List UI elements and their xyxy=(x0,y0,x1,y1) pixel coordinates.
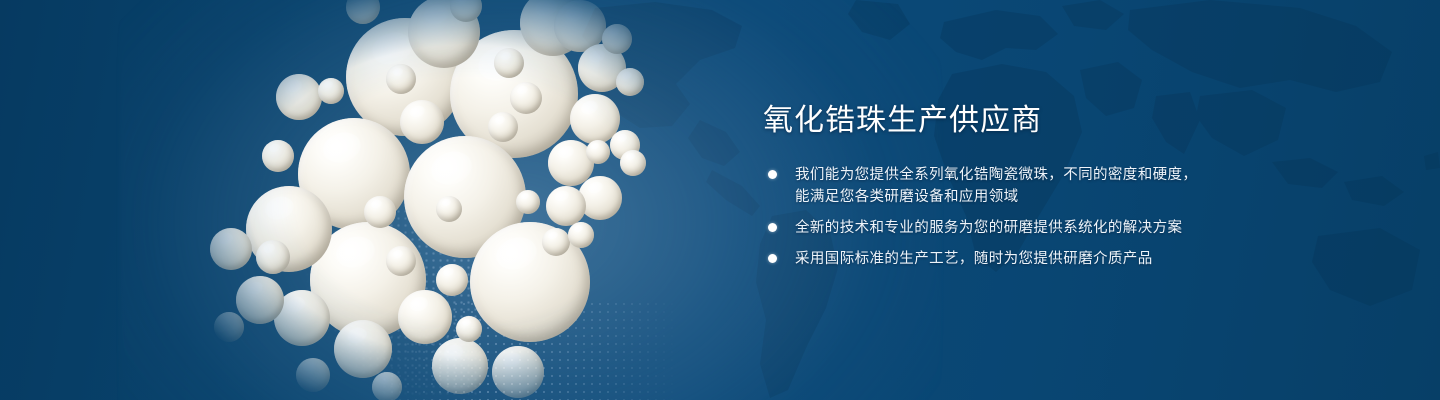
list-item: 采用国际标准的生产工艺，随时为您提供研磨介质产品 xyxy=(763,248,1233,270)
bullet-text: 采用国际标准的生产工艺，随时为您提供研磨介质产品 xyxy=(795,248,1153,270)
bullet-dot-icon xyxy=(768,254,777,263)
list-item: 我们能为您提供全系列氧化锆陶瓷微珠，不同的密度和硬度， 能满足您各类研磨设备和应… xyxy=(763,164,1233,208)
bullet-text: 我们能为您提供全系列氧化锆陶瓷微珠，不同的密度和硬度， 能满足您各类研磨设备和应… xyxy=(795,164,1197,208)
bullet-text: 全新的技术和专业的服务为您的研磨提供系统化的解决方案 xyxy=(795,217,1182,239)
bullet-line: 我们能为您提供全系列氧化锆陶瓷微珠，不同的密度和硬度， xyxy=(795,164,1197,186)
bullet-line: 能满足您各类研磨设备和应用领域 xyxy=(795,186,1197,208)
zirconia-beads-photo xyxy=(150,0,760,400)
bullet-dot-icon xyxy=(768,223,777,232)
banner-title: 氧化锆珠生产供应商 xyxy=(763,104,1233,138)
bullet-line: 全新的技术和专业的服务为您的研磨提供系统化的解决方案 xyxy=(795,217,1182,239)
bullet-dot-icon xyxy=(768,170,777,179)
banner-text-block: 氧化锆珠生产供应商 我们能为您提供全系列氧化锆陶瓷微珠，不同的密度和硬度， 能满… xyxy=(763,104,1233,279)
promo-banner: 氧化锆珠生产供应商 我们能为您提供全系列氧化锆陶瓷微珠，不同的密度和硬度， 能满… xyxy=(0,0,1440,400)
list-item: 全新的技术和专业的服务为您的研磨提供系统化的解决方案 xyxy=(763,217,1233,239)
bullet-line: 采用国际标准的生产工艺，随时为您提供研磨介质产品 xyxy=(795,248,1153,270)
